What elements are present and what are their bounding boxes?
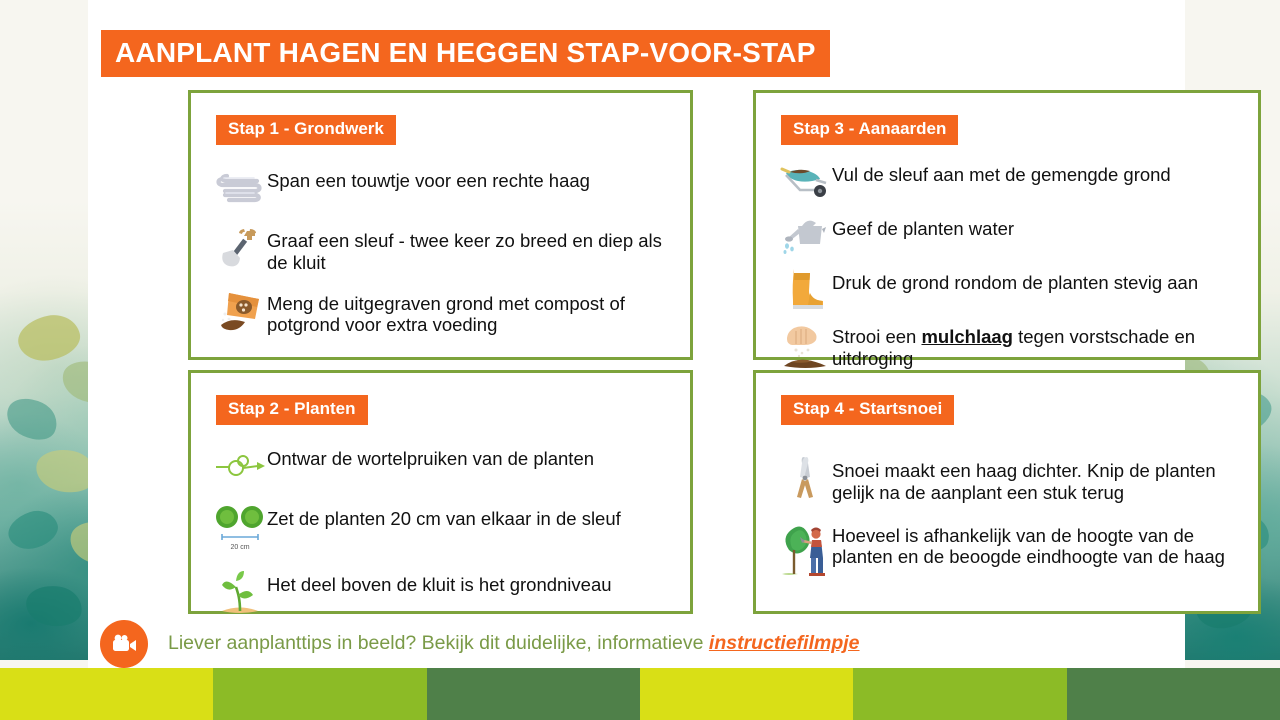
list-item: Strooi een mulchlaag tegen vorstschade e… [778,321,1244,371]
page-title: AANPLANT HAGEN EN HEGGEN STAP-VOOR-STAP [115,38,816,67]
step-panel-2: Stap 2 - Planten [188,370,693,614]
list-item-text: Snoei maakt een haag dichter. Knip de pl… [832,455,1244,504]
step-2-tag: Stap 2 - Planten [216,395,368,425]
step-3-tag: Stap 3 - Aanaarden [781,115,958,145]
list-item-text: Graaf een sleuf - twee keer zo breed en … [267,225,676,274]
list-item: Meng de uitgegraven grond met compost of… [213,288,676,337]
list-item: Geef de planten water [778,213,1244,259]
strip-block [0,668,213,720]
list-item: Vul de sleuf aan met de gemengde grond [778,159,1244,205]
list-item-text: Hoeveel is afhankelijk van de hoogte van… [832,520,1244,569]
step-panel-1: Stap 1 - Grondwerk [188,90,693,360]
strip-block [853,668,1066,720]
wheelbarrow-icon [778,159,832,205]
strip-block [427,668,640,720]
strip-block [213,668,426,720]
watering-can-icon [778,213,832,259]
step-1-tag: Stap 1 - Grondwerk [216,115,396,145]
slide-canvas: AANPLANT HAGEN EN HEGGEN STAP-VOOR-STAP … [0,0,1280,720]
list-item-text: Zet de planten 20 cm van elkaar in de sl… [267,503,621,530]
list-item-text: Meng de uitgegraven grond met compost of… [267,288,676,337]
list-item: Graaf een sleuf - twee keer zo breed en … [213,225,676,274]
list-item: 20 cm Zet de planten 20 cm van elkaar in… [213,503,676,555]
bottom-color-strip [0,668,1280,720]
boot-icon [778,267,832,313]
list-item-text: Druk de grond rondom de planten stevig a… [832,267,1198,294]
step-panel-4: Stap 4 - Startsnoei Snoei maakt een haag… [753,370,1261,614]
step-3-items: Vul de sleuf aan met de gemengde grond [778,159,1244,379]
step-4-tag-label: Stap 4 - Startsnoei [793,400,942,419]
list-item: Druk de grond rondom de planten stevig a… [778,267,1244,313]
mulchlaag-link[interactable]: mulchlaag [921,326,1013,347]
person-trimming-tree-icon [778,520,832,582]
footer-text: Liever aanplanttips in beeld? Bekijk dit… [168,632,860,655]
step-1-items: Span een touwtje voor een rechte haag Gr… [213,165,676,350]
strip-block [1067,668,1280,720]
spacing-label: 20 cm [230,544,249,551]
seedling-icon [213,569,267,617]
list-item: Ontwar de wortelpruiken van de planten [213,443,676,489]
step-4-tag: Stap 4 - Startsnoei [781,395,954,425]
step-2-tag-label: Stap 2 - Planten [228,400,356,419]
list-item-text: Geef de planten water [832,213,1014,240]
list-item: Het deel boven de kluit is het grondnive… [213,569,676,617]
video-footer[interactable]: Liever aanplanttips in beeld? Bekijk dit… [100,620,860,668]
hand-mulch-icon [778,321,832,371]
list-item: Hoeveel is afhankelijk van de hoogte van… [778,520,1244,582]
step-1-tag-label: Stap 1 - Grondwerk [228,120,384,139]
list-item: Snoei maakt een haag dichter. Knip de pl… [778,455,1244,504]
step-4-items: Snoei maakt een haag dichter. Knip de pl… [778,455,1244,598]
content-card: AANPLANT HAGEN EN HEGGEN STAP-VOOR-STAP … [88,0,1185,668]
untangle-roots-icon [213,443,267,489]
step-3-tag-label: Stap 3 - Aanaarden [793,120,946,139]
instructiefilmpje-link[interactable]: instructiefilmpje [709,632,860,654]
list-item-text: Span een touwtje voor een rechte haag [267,165,590,192]
list-item-text: Ontwar de wortelpruiken van de planten [267,443,594,470]
step-panel-3: Stap 3 - Aanaarden [753,90,1261,360]
slide-title-banner: AANPLANT HAGEN EN HEGGEN STAP-VOOR-STAP [101,30,830,77]
list-item: Span een touwtje voor een rechte haag [213,165,676,211]
list-item-text-before: Strooi een [832,326,921,347]
shovel-icon [213,225,267,271]
video-camera-icon[interactable] [100,620,148,668]
list-item-text: Vul de sleuf aan met de gemengde grond [832,159,1171,186]
list-item-text: Strooi een mulchlaag tegen vorstschade e… [832,321,1244,370]
rope-coil-icon [213,165,267,211]
hedge-shears-icon [778,455,832,503]
step-2-items: Ontwar de wortelpruiken van de planten [213,443,676,631]
strip-block [640,668,853,720]
list-item-text: Het deel boven de kluit is het grondnive… [267,569,612,596]
two-plants-spacing-icon: 20 cm [213,503,267,555]
footer-text-before: Liever aanplanttips in beeld? Bekijk dit… [168,632,709,654]
compost-bag-icon [213,288,267,334]
